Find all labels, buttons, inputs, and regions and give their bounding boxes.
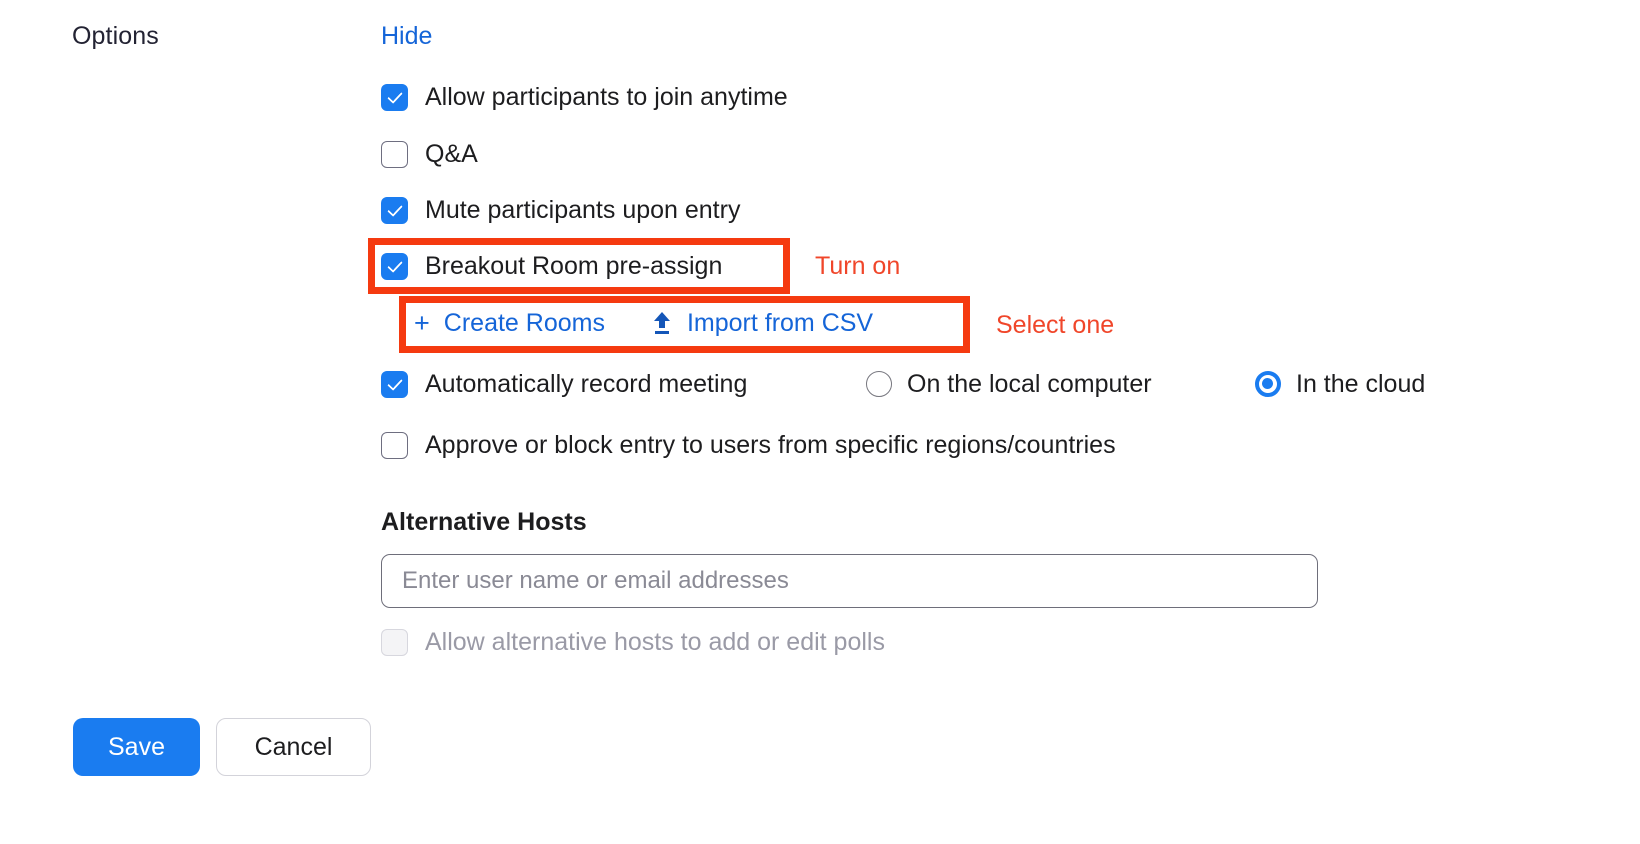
create-rooms-button[interactable]: + Create Rooms <box>414 309 605 338</box>
checkbox-alt-hosts-edit-polls <box>381 629 408 656</box>
option-row-join-anytime[interactable]: Allow participants to join anytime <box>381 82 788 112</box>
option-row-breakout-preassign[interactable]: Breakout Room pre-assign <box>381 251 722 281</box>
annotation-select-one: Select one <box>996 310 1114 340</box>
option-row-auto-record[interactable]: Automatically record meeting <box>381 369 747 399</box>
options-section-label: Options <box>72 20 159 52</box>
alternative-hosts-title: Alternative Hosts <box>381 507 587 537</box>
radio-row-local-computer[interactable]: On the local computer <box>866 369 1152 399</box>
option-row-mute-on-entry[interactable]: Mute participants upon entry <box>381 195 740 225</box>
radio-label-in-the-cloud: In the cloud <box>1296 369 1425 399</box>
checkbox-breakout-preassign[interactable] <box>381 253 408 280</box>
radio-in-the-cloud[interactable] <box>1255 371 1281 397</box>
option-label-breakout-preassign: Breakout Room pre-assign <box>425 251 722 281</box>
hide-options-link[interactable]: Hide <box>381 20 432 52</box>
option-label-join-anytime: Allow participants to join anytime <box>425 82 788 112</box>
upload-icon <box>650 310 674 336</box>
radio-row-in-the-cloud[interactable]: In the cloud <box>1255 369 1425 399</box>
import-from-csv-button[interactable]: Import from CSV <box>650 309 873 338</box>
radio-on-the-local-computer[interactable] <box>866 371 892 397</box>
option-label-region-block: Approve or block entry to users from spe… <box>425 430 1116 460</box>
checkbox-mute-on-entry[interactable] <box>381 197 408 224</box>
annotation-turn-on: Turn on <box>815 251 900 281</box>
options-panel: Options Hide Allow participants to join … <box>0 0 1640 844</box>
breakout-actions-row: + Create Rooms Import from CSV <box>414 305 873 341</box>
checkbox-qa[interactable] <box>381 141 408 168</box>
radio-label-local-computer: On the local computer <box>907 369 1152 399</box>
option-label-qa: Q&A <box>425 139 478 169</box>
option-label-mute-on-entry: Mute participants upon entry <box>425 195 740 225</box>
cancel-button[interactable]: Cancel <box>216 718 371 776</box>
option-row-qa[interactable]: Q&A <box>381 139 478 169</box>
option-row-region-block[interactable]: Approve or block entry to users from spe… <box>381 430 1116 460</box>
checkbox-join-anytime[interactable] <box>381 84 408 111</box>
checkbox-auto-record[interactable] <box>381 371 408 398</box>
checkbox-region-block[interactable] <box>381 432 408 459</box>
alternative-hosts-input[interactable] <box>381 554 1318 608</box>
plus-icon: + <box>414 310 430 337</box>
option-row-alt-hosts-polls: Allow alternative hosts to add or edit p… <box>381 627 885 657</box>
option-label-alt-hosts-edit-polls: Allow alternative hosts to add or edit p… <box>425 627 885 657</box>
import-from-csv-label: Import from CSV <box>687 309 873 338</box>
create-rooms-label: Create Rooms <box>444 309 605 338</box>
option-label-auto-record: Automatically record meeting <box>425 369 747 399</box>
save-button[interactable]: Save <box>73 718 200 776</box>
